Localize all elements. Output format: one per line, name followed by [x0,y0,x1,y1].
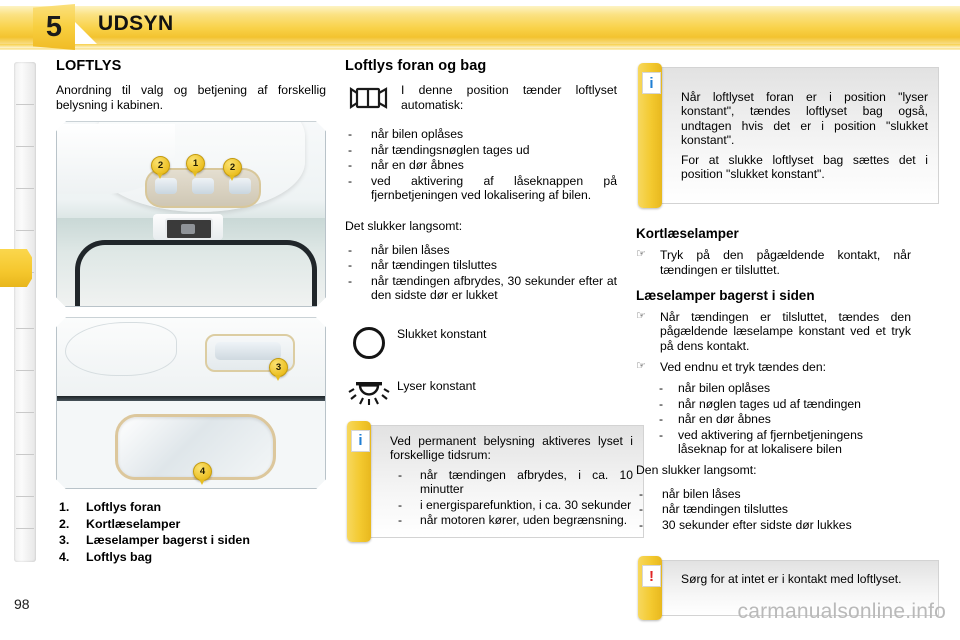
subsection-title-rear-side-lamps: Læselamper bagerst i siden [636,288,911,303]
page-number: 98 [14,596,30,612]
list-item: i energisparefunktion, i ca. 30 sekunder [390,498,633,512]
tab-divider [16,496,34,497]
watermark: carmanualsonline.info [738,600,947,624]
left-column: LOFTLYS Anordning til valg og betjening … [56,58,326,565]
tab-divider [16,412,34,413]
page-title: UDSYN [98,12,174,36]
rear-side-sub-list: når bilen oplåses når nøglen tages ud af… [636,381,911,457]
list-item: ved aktivering af fjernbetjeningens låse… [656,428,911,457]
rear-side-lamps-list: Når tændingen er tilsluttet, tændes den … [636,310,911,375]
list-item: Tryk på den pågældende kontakt, når tænd… [636,248,911,277]
legend-label: Loftlys bag [86,550,152,564]
info-icon: i [351,430,370,452]
constant-on-label: Lyser konstant [397,379,617,394]
photo-rear-reading-lamp: 3 4 [56,317,326,489]
note-list: når tændingen afbrydes, i ca. 10 minutte… [390,468,633,528]
door-contour-line [65,322,177,376]
legend-num: 2. [59,516,69,533]
legend-num: 3. [59,532,69,549]
legend-item-1: 1.Loftlys foran [56,499,326,516]
chapter-tab-strip[interactable] [14,62,36,562]
section-intro: Anordning til valg og betjening af forsk… [56,83,326,112]
info-icon: i [642,72,661,94]
subsection-title-front-rear: Loftlys foran og bag [345,58,617,74]
chapter-number: 5 [33,4,75,50]
slow-off-list: når bilen låses når tændingen tilsluttes… [345,243,617,303]
constant-off-row: Slukket konstant [345,327,617,357]
map-lamps-list: Tryk på den pågældende kontakt, når tænd… [636,248,911,277]
list-item: når nøglen tages ud af tændingen [656,397,911,412]
tab-divider [16,528,34,529]
warning-text: Sørg for at intet er i kontakt med loftl… [681,572,928,586]
section-title: LOFTLYS [56,58,326,74]
middle-column: Loftlys foran og bag I denne position tæ… [345,58,617,538]
chapter-tab-active-5[interactable] [0,249,32,287]
list-item: når bilen låses [636,487,911,502]
photo-front-ceiling-light: 2 1 2 [56,121,326,307]
list-item: når tændingen afbrydes, i ca. 10 minutte… [390,468,633,497]
tab-divider [16,454,34,455]
note-paragraph-2: For at slukke loftlyset bag sættes det i… [681,153,928,182]
page-header: 5 UDSYN [0,0,960,52]
tab-divider [16,104,34,105]
subsection-title-map-lamps: Kortlæselamper [636,226,911,241]
list-item: Ved endnu et tryk tændes den: [636,360,911,375]
list-item: 30 sekunder efter sidste dør lukkes [636,518,911,533]
list-item: ved aktivering af låseknappen på fjernbe… [345,174,617,203]
tab-divider [16,370,34,371]
lamp-off-circle-icon [353,327,385,359]
constant-on-row: Lyser konstant [345,379,617,409]
auto-position-text: I denne position tænder loftlyset automa… [401,83,617,112]
constant-off-label: Slukket konstant [397,327,617,342]
console-lamp-left [155,178,177,194]
list-item: når tændingsnøglen tages ud [345,143,617,158]
list-item: Når tændingen er tilsluttet, tændes den … [636,310,911,354]
list-item: når bilen låses [345,243,617,258]
legend-item-3: 3.Læselamper bagerst i siden [56,532,326,549]
car-door-light-icon [349,85,389,111]
list-item: når motoren kører, uden begrænsning. [390,513,633,527]
tab-divider [16,230,34,231]
list-item: når tændingen tilsluttes [636,502,911,517]
legend-item-2: 2.Kortlæselamper [56,516,326,533]
list-item: når bilen oplåses [345,127,617,142]
auto-position-row: I denne position tænder loftlyset automa… [345,83,617,117]
list-item: når tændingen tilsluttes [345,258,617,273]
legend-list: 1.Loftlys foran 2.Kortlæselamper 3.Læsel… [56,499,326,565]
list-item: når bilen oplåses [656,381,911,396]
note-paragraph-1: Når loftlyset foran er i position "lyser… [681,90,928,148]
info-note-rear-light: i Når loftlyset foran er i position "lys… [646,67,939,204]
legend-label: Læselamper bagerst i siden [86,533,250,547]
legend-num: 4. [59,549,69,566]
tab-divider [16,188,34,189]
right-column: i Når loftlyset foran er i position "lys… [636,58,911,616]
mirror-button [165,218,213,240]
legend-item-4: 4.Loftlys bag [56,549,326,566]
slow-off-title: Det slukker langsomt: [345,219,617,234]
lamp-on-icon [347,379,391,407]
door-trim-line [57,396,325,401]
list-item: når en dør åbnes [656,412,911,427]
warning-icon: ! [642,565,661,587]
auto-on-list: når bilen oplåses når tændingsnøglen tag… [345,127,617,203]
windshield-frame [75,240,317,307]
rear-slow-off-list: når bilen låses når tændingen tilsluttes… [636,487,911,533]
legend-label: Kortlæselamper [86,517,180,531]
list-item: når en dør åbnes [345,158,617,173]
note-intro: Ved permanent belysning aktiveres lyset … [390,434,633,463]
info-note-permanent-lighting: i Ved permanent belysning aktiveres lyse… [355,425,644,538]
header-underline [0,44,960,48]
list-item: når tændingen afbrydes, 30 sekunder efte… [345,274,617,303]
legend-num: 1. [59,499,69,516]
rear-slow-off-title: Den slukker langsomt: [636,463,911,478]
console-lamp-center [192,178,214,194]
tab-divider [16,146,34,147]
tab-divider [16,328,34,329]
legend-label: Loftlys foran [86,500,161,514]
